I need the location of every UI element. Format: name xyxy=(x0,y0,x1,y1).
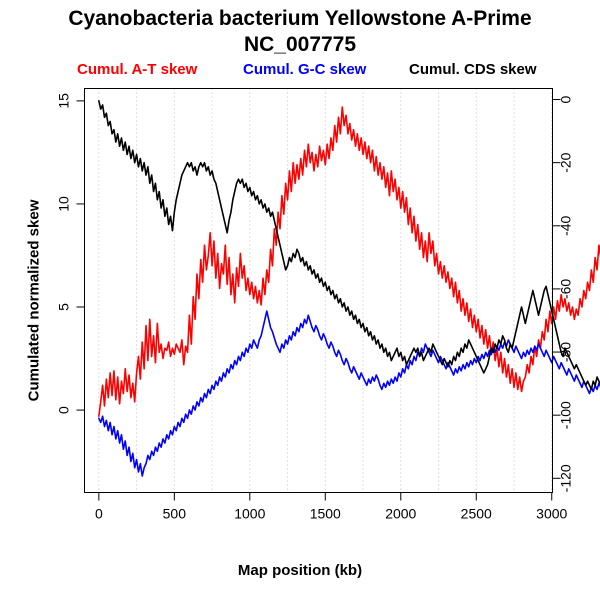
tick-label: 0 xyxy=(558,95,574,103)
tick-label: 1500 xyxy=(310,506,341,522)
chart-page: Cyanobacteria bacterium Yellowstone A-Pr… xyxy=(0,0,600,600)
tick-label: -80 xyxy=(558,342,574,362)
tick-label: -120 xyxy=(558,464,574,492)
plot-frame xyxy=(85,89,553,493)
y-axis-label-left: Cumulated normalized skew xyxy=(26,171,43,431)
tick-label: -60 xyxy=(558,279,574,299)
tick-label: 3000 xyxy=(536,506,567,522)
tick-label: -20 xyxy=(558,152,574,172)
tick-label: -40 xyxy=(558,215,574,235)
tick-label: 0 xyxy=(95,506,103,522)
x-axis-label: Map position (kb) xyxy=(0,562,600,579)
tick-label: 1000 xyxy=(234,506,265,522)
tick-label: 500 xyxy=(163,506,187,522)
tick-label: 2000 xyxy=(385,506,416,522)
series-line-gc xyxy=(99,311,600,476)
tick-label: 5 xyxy=(56,303,72,311)
tick-label: 2500 xyxy=(461,506,492,522)
grid-lines xyxy=(99,89,552,493)
tick-label: 10 xyxy=(56,196,72,212)
tick-label: 15 xyxy=(56,93,72,109)
plot-area: 0500100015002000250030000510150-20-40-60… xyxy=(0,0,600,600)
tick-label: -100 xyxy=(558,401,574,429)
tick-label: 0 xyxy=(56,406,72,414)
